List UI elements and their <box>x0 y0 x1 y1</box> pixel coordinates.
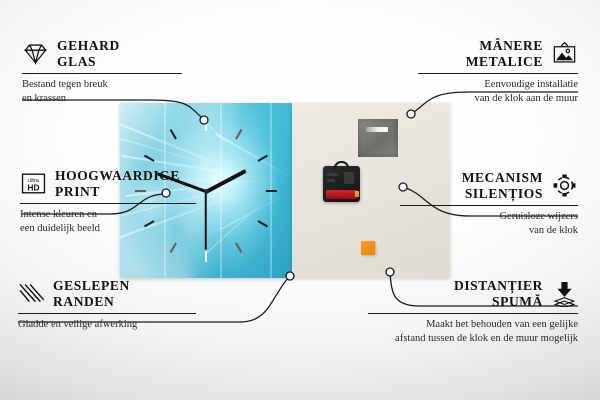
clock-tick <box>170 242 177 253</box>
clock-tick <box>205 120 207 131</box>
svg-text:HD: HD <box>27 183 39 193</box>
feature-desc-line1: Maakt het behouden van een gelijke <box>368 318 578 332</box>
diamond-icon <box>22 40 49 67</box>
feature-desc-line2: van de klok <box>400 224 578 238</box>
feature-header: DISTANȚIER SPUMĂ <box>368 278 578 310</box>
feature-description: Geruisloze wijzers van de klok <box>400 210 578 238</box>
aa-battery <box>326 190 357 199</box>
feature-title: MÂNERE METALICE <box>466 38 543 70</box>
feature-desc-line1: Bestand tegen breuk <box>22 78 207 92</box>
feature-gehard-glas[interactable]: GEHARD GLAS Bestand tegen breuk en krass… <box>22 38 207 106</box>
feature-hoogwaardige-print[interactable]: ultra HD HOOGWAARDIGE PRINT Intense kleu… <box>20 168 220 236</box>
clock-tick <box>266 190 277 192</box>
feature-title-line2: RANDEN <box>53 294 130 310</box>
feature-title-line2: GLAS <box>57 54 120 70</box>
feature-manere-metalice[interactable]: MÂNERE METALICE Eenvoudige installatie v… <box>393 38 578 106</box>
feature-title-line2: PRINT <box>55 184 180 200</box>
feature-title-line1: MÂNERE <box>466 38 543 54</box>
feature-mecanism-silentios[interactable]: MECANISM SILENȚIOS Geruisloze wijzers va… <box>400 170 578 238</box>
feature-header: MECANISM SILENȚIOS <box>400 170 578 202</box>
spacer-stack-icon <box>551 280 578 307</box>
ultra-hd-icon: ultra HD <box>20 170 47 197</box>
feature-title-line2: SPUMĂ <box>454 294 543 310</box>
infographic-canvas: GEHARD GLAS Bestand tegen breuk en krass… <box>0 0 600 400</box>
feature-divider <box>400 205 578 207</box>
feature-description: Bestand tegen breuk en krassen <box>22 78 207 106</box>
feature-title: DISTANȚIER SPUMĂ <box>454 278 543 310</box>
mechanism-detail <box>327 173 338 176</box>
feature-description: Maakt het behouden van een gelijke afsta… <box>368 318 578 346</box>
gear-icon <box>551 172 578 199</box>
feature-title: MECANISM SILENȚIOS <box>462 170 543 202</box>
feature-header: GESLEPEN RANDEN <box>18 278 218 310</box>
feature-title-line1: HOOGWAARDIGE <box>55 168 180 184</box>
hanger-loop <box>334 161 349 169</box>
feature-title-line2: METALICE <box>466 54 543 70</box>
feature-title-line1: DISTANȚIER <box>454 278 543 294</box>
feature-description: Intense kleuren en een duidelijk beeld <box>20 208 220 236</box>
feature-desc-line2: van de klok aan de muur <box>393 92 578 106</box>
picture-hanger-icon <box>551 40 578 67</box>
feature-desc-line2: een duidelijk beeld <box>20 222 220 236</box>
feature-header: MÂNERE METALICE <box>393 38 578 70</box>
clock-tick <box>170 129 177 140</box>
feature-divider <box>418 73 578 75</box>
foam-spacer <box>361 241 375 255</box>
mechanism-detail <box>344 172 354 184</box>
feature-title: GEHARD GLAS <box>57 38 120 70</box>
feature-description: Eenvoudige installatie van de klok aan d… <box>393 78 578 106</box>
feature-title-line1: GEHARD <box>57 38 120 54</box>
feature-distantier-spuma[interactable]: DISTANȚIER SPUMĂ Maakt het behouden van … <box>368 278 578 346</box>
feature-desc-line1: Intense kleuren en <box>20 208 220 222</box>
feature-desc-line1: Geruisloze wijzers <box>400 210 578 224</box>
feature-geslepen-randen[interactable]: GESLEPEN RANDEN Gladde en veilige afwerk… <box>18 278 218 332</box>
feature-divider <box>20 203 196 205</box>
silent-clock-mechanism <box>323 166 360 202</box>
feature-title-line1: MECANISM <box>462 170 543 186</box>
feature-desc-line1: Eenvoudige installatie <box>393 78 578 92</box>
clock-tick <box>235 242 242 253</box>
feature-description: Gladde en veilige afwerking <box>18 318 218 332</box>
feature-title-line1: GESLEPEN <box>53 278 130 294</box>
glass-panel-seam <box>220 103 222 278</box>
feature-divider <box>22 73 182 75</box>
feature-title-line2: SILENȚIOS <box>462 186 543 202</box>
feature-desc-line2: afstand tussen de klok en de muur mogeli… <box>368 332 578 346</box>
feature-divider <box>368 313 578 315</box>
feature-title: HOOGWAARDIGE PRINT <box>55 168 180 200</box>
feature-divider <box>18 313 196 315</box>
bevelled-edges-icon <box>18 280 45 307</box>
feature-header: ultra HD HOOGWAARDIGE PRINT <box>20 168 220 200</box>
feature-desc-line2: en krassen <box>22 92 207 106</box>
feature-title: GESLEPEN RANDEN <box>53 278 130 310</box>
feature-header: GEHARD GLAS <box>22 38 207 70</box>
mechanism-detail <box>327 179 335 182</box>
metal-hanger-bracket <box>358 119 398 157</box>
feature-desc-line1: Gladde en veilige afwerking <box>18 318 218 332</box>
clock-tick <box>205 251 207 262</box>
